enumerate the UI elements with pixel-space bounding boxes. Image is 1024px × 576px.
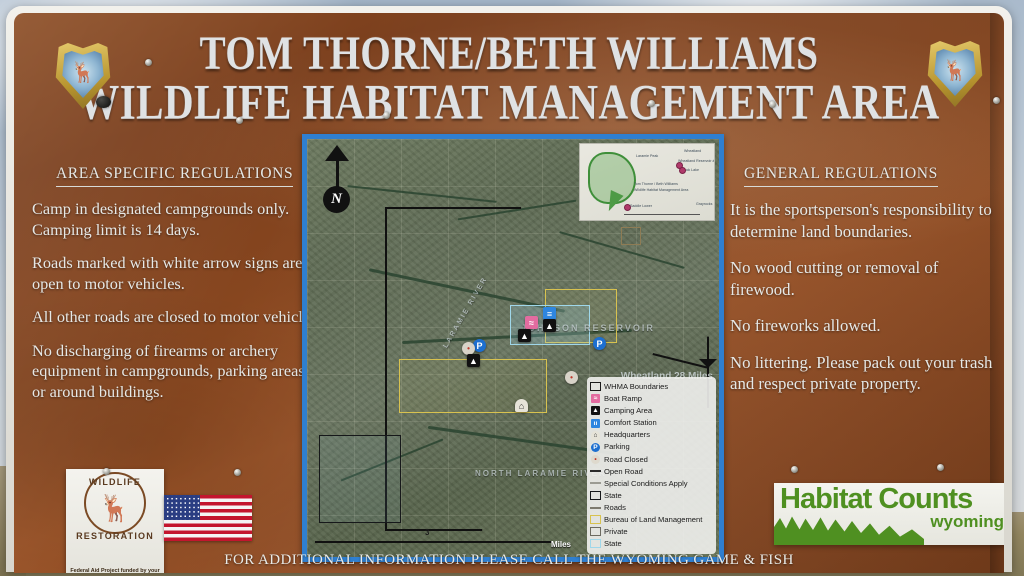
legend-symbol-icon <box>590 467 601 476</box>
legend-symbol-icon <box>590 527 601 536</box>
legend-glyph <box>590 382 601 391</box>
legend-label: Parking <box>604 443 630 451</box>
screw <box>993 97 1000 104</box>
legend-row: ▲Camping Area <box>590 405 712 417</box>
legend-glyph <box>590 515 601 524</box>
habitat-counts-title: Habitat Counts <box>780 485 972 514</box>
map-scale-unit: Miles <box>551 540 571 549</box>
map-scale-bar <box>315 541 551 543</box>
legend-row: ııComfort Station <box>590 417 712 429</box>
north-arrow: N <box>319 143 355 211</box>
legend-row: WHMA Boundaries <box>590 381 712 393</box>
legend-symbol-icon <box>590 503 601 512</box>
legend-symbol-icon <box>590 515 601 524</box>
habitat-counts-placard: Habitat Counts wyoming <box>774 483 1004 545</box>
map-scale-number: 3 <box>425 528 429 537</box>
wr-word-bottom: RESTORATION <box>66 531 164 541</box>
mounting-bolt <box>96 96 111 108</box>
legend-symbol-icon <box>590 382 601 391</box>
legend-label: Private <box>604 528 628 536</box>
legend-glyph <box>590 470 601 472</box>
wr-word-top: WILDLIFE <box>66 477 164 487</box>
legend-label: State <box>604 492 622 500</box>
legend-row: Open Road <box>590 465 712 477</box>
map-marker-parking: P <box>593 337 606 350</box>
legend-glyph: P <box>591 443 600 452</box>
legend-label: Special Conditions Apply <box>604 480 688 488</box>
legend-glyph: ▲ <box>591 406 600 415</box>
area-regulation-item: Roads marked with white arrow signs are … <box>32 253 322 294</box>
legend-glyph: • <box>591 455 600 464</box>
legend-symbol-icon <box>590 479 601 488</box>
legend-row: Bureau of Land Management <box>590 514 712 526</box>
general-regulation-item: It is the sportsperson's responsibility … <box>730 199 998 242</box>
inset-title-line1: Tom Thorne / Beth Williams <box>634 182 678 187</box>
legend-symbol-icon <box>590 491 601 500</box>
page-title: TOM THORNE/BETH WILLIAMS WILDLIFE HABITA… <box>14 31 1004 118</box>
screw <box>769 101 776 108</box>
map-marker-camping-area: ▲ <box>518 329 531 342</box>
legend-label: Bureau of Land Management <box>604 516 702 524</box>
inset-place-laramie-peak: Laramie Peak <box>636 154 658 159</box>
screw <box>791 466 798 473</box>
screw <box>383 112 390 119</box>
general-regulations-heading: GENERAL REGULATIONS <box>744 165 938 187</box>
legend-glyph: ıı <box>591 419 600 428</box>
title-line-1: TOM THORNE/BETH WILLIAMS <box>14 31 1004 77</box>
inset-title-line2: Wildlife Habitat Management Area <box>634 188 688 193</box>
map-legend: WHMA Boundaries≈Boat Ramp▲Camping Areaıı… <box>587 377 716 554</box>
screw <box>234 469 241 476</box>
area-regulation-item: No discharging of firearms or archery eq… <box>32 341 322 403</box>
elk-icon: 🦌 <box>943 61 968 81</box>
legend-symbol-icon <box>590 539 601 548</box>
map-marker-parking: P <box>473 339 486 352</box>
legend-row: ≈Boat Ramp <box>590 393 712 405</box>
legend-row: State <box>590 490 712 502</box>
map-marker-headquarters: ⌂ <box>515 399 528 412</box>
legend-row: Special Conditions Apply <box>590 477 712 489</box>
footer-text: FOR ADDITIONAL INFORMATION PLEASE CALL T… <box>14 552 1004 569</box>
legend-row: State <box>590 538 712 550</box>
legend-label: Comfort Station <box>604 419 657 427</box>
aerial-map: JOHNSON RESERVOIR NORTH LARAMIE RIVER LA… <box>307 139 719 557</box>
map-panel: JOHNSON RESERVOIR NORTH LARAMIE RIVER LA… <box>302 134 724 562</box>
inset-scale-bar <box>624 214 700 215</box>
legend-label: Open Road <box>604 468 643 476</box>
wyoming-game-fish-seal-right: 🦌 <box>926 41 984 107</box>
legend-label: Headquarters <box>604 431 650 439</box>
grass-icon <box>774 515 924 545</box>
legend-label: Road Closed <box>604 456 648 464</box>
screw <box>648 100 655 107</box>
inset-marker-dot <box>624 204 631 211</box>
legend-glyph <box>590 507 601 509</box>
general-regulation-item: No fireworks allowed. <box>730 315 998 337</box>
inset-place-wheatland: Wheatland <box>684 149 701 154</box>
legend-glyph: ⌂ <box>591 431 600 440</box>
inset-place-grayrocks: Grayrocks <box>696 202 712 207</box>
legend-symbol-icon: ıı <box>590 419 601 428</box>
legend-glyph <box>590 491 601 500</box>
us-flag-decal <box>164 495 252 541</box>
inset-place-wheatland-res: Wheatland Reservoir #1 <box>678 159 715 164</box>
habitat-counts-subtitle: wyoming <box>930 513 1004 530</box>
legend-symbol-icon: ▲ <box>590 406 601 415</box>
private-parcel <box>621 227 641 245</box>
legend-row: PParking <box>590 441 712 453</box>
map-marker-road-closed: • <box>565 371 578 384</box>
legend-glyph <box>590 527 601 536</box>
state-parcel <box>319 435 401 523</box>
legend-symbol-icon: P <box>590 443 601 452</box>
legend-label: Boat Ramp <box>604 395 642 403</box>
legend-symbol-icon: ≈ <box>590 394 601 403</box>
screw <box>103 468 110 475</box>
inset-locator-map: Laramie Peak Wheatland Wheatland Reservo… <box>579 143 715 221</box>
general-regulation-item: No littering. Please pack out your trash… <box>730 352 998 395</box>
map-label-reservoir: JOHNSON RESERVOIR <box>521 323 655 333</box>
legend-label: State <box>604 540 622 548</box>
legend-label: WHMA Boundaries <box>604 383 668 391</box>
map-marker-boat-ramp: ≈ <box>525 316 538 329</box>
area-regulation-item: Camp in designated campgrounds only. Cam… <box>32 199 322 240</box>
map-marker-camping-area: ▲ <box>467 354 480 367</box>
screw <box>236 117 243 124</box>
legend-row: ⌂Headquarters <box>590 429 712 441</box>
legend-label: Camping Area <box>604 407 652 415</box>
general-regulations: GENERAL REGULATIONS It is the sportspers… <box>730 165 998 410</box>
legend-row: Roads <box>590 502 712 514</box>
general-regulation-item: No wood cutting or removal of firewood. <box>730 257 998 300</box>
area-specific-regulations: AREA SPECIFIC REGULATIONS Camp in design… <box>32 165 322 415</box>
legend-symbol-icon: ⌂ <box>590 431 601 440</box>
screw <box>145 59 152 66</box>
area-regulation-item: All other roads are closed to motor vehi… <box>32 307 322 328</box>
legend-symbol-icon: • <box>590 455 601 464</box>
legend-glyph <box>590 539 601 548</box>
north-letter: N <box>323 186 350 213</box>
area-regulations-heading: AREA SPECIFIC REGULATIONS <box>56 165 293 187</box>
screenshot-root: TOM THORNE/BETH WILLIAMS WILDLIFE HABITA… <box>0 0 1024 576</box>
inset-marker-dot <box>679 167 686 174</box>
title-line-2: WILDLIFE HABITAT MANAGEMENT AREA <box>14 78 1004 126</box>
flag-canton <box>164 495 200 520</box>
inset-place-saddle-lower: Saddle Lower <box>630 204 652 209</box>
legend-row: •Road Closed <box>590 453 712 465</box>
elk-icon: 🦌 <box>71 63 96 83</box>
legend-row: Private <box>590 526 712 538</box>
legend-glyph: ≈ <box>591 394 600 403</box>
deer-icon: 🦌 <box>99 496 131 522</box>
legend-label: Roads <box>604 504 626 512</box>
legend-glyph <box>590 482 601 484</box>
map-marker-camping-area: ▲ <box>543 319 556 332</box>
screw <box>937 464 944 471</box>
